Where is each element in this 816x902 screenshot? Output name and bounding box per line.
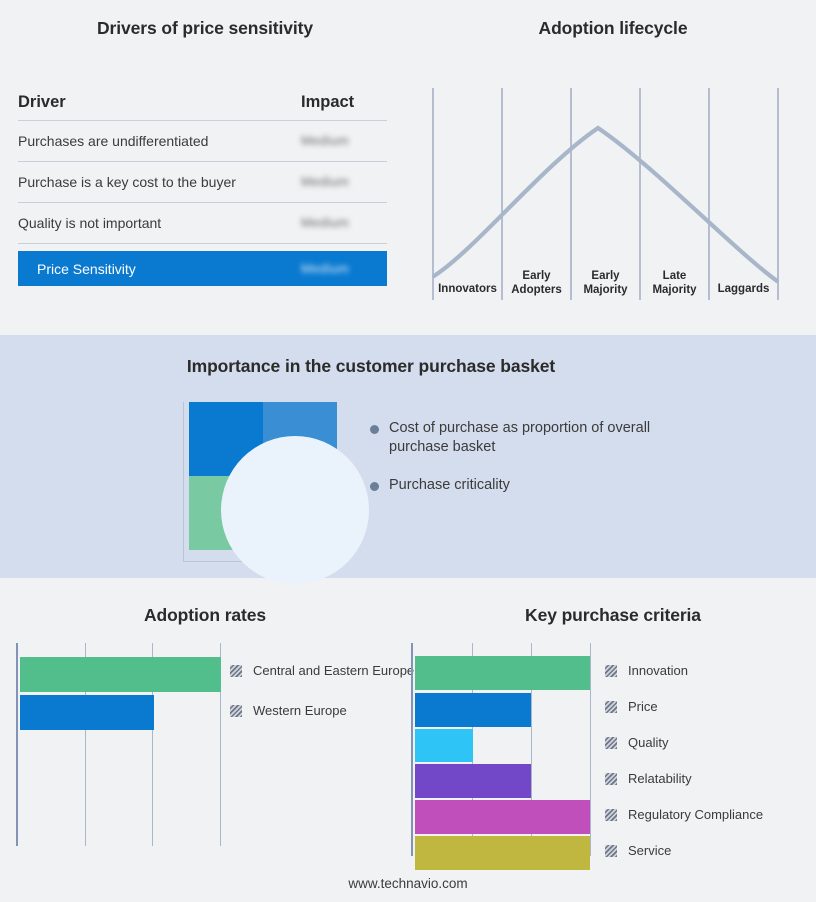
- legend-item: Central and Eastern Europe: [230, 663, 414, 678]
- legend-item: Quality: [605, 735, 763, 750]
- position-marker-dot: [221, 436, 369, 584]
- footer-url: www.technavio.com: [0, 876, 816, 891]
- impact-value-redacted: Medium: [301, 174, 349, 189]
- hatched-swatch-icon: [605, 773, 617, 785]
- driver-name: Quality is not important: [18, 215, 301, 231]
- summary-impact: Medium: [301, 260, 387, 278]
- legend-label: Relatability: [628, 771, 692, 786]
- quadrant-grid: [189, 402, 337, 550]
- key-purchase-criteria-title: Key purchase criteria: [410, 605, 816, 626]
- table-row: Quality is not important Medium: [18, 203, 387, 244]
- stage-label-innovators: Innovators: [433, 283, 502, 297]
- legend-item: Purchase criticality: [370, 476, 660, 495]
- hatched-swatch-icon: [605, 737, 617, 749]
- legend-item: Price: [605, 699, 763, 714]
- column-header-driver: Driver: [18, 93, 301, 112]
- key-purchase-criteria-chart: [411, 643, 591, 856]
- legend-item: Innovation: [605, 663, 763, 678]
- legend-label: Regulatory Compliance: [628, 807, 763, 822]
- table-row: Purchase is a key cost to the buyer Medi…: [18, 162, 387, 203]
- plot-area: [16, 643, 221, 846]
- column-header-impact: Impact: [301, 93, 387, 112]
- drivers-table: Driver Impact Purchases are undifferenti…: [18, 93, 387, 286]
- driver-name: Purchase is a key cost to the buyer: [18, 174, 301, 190]
- hatched-swatch-icon: [605, 701, 617, 713]
- bullet-icon: [370, 482, 379, 491]
- stage-label-early-majority: Early Majority: [571, 270, 640, 297]
- hatched-swatch-icon: [605, 845, 617, 857]
- drivers-panel-title: Drivers of price sensitivity: [0, 18, 410, 39]
- table-row: Purchases are undifferentiated Medium: [18, 121, 387, 162]
- hatched-swatch-icon: [230, 705, 242, 717]
- quadrant-matrix: [183, 402, 343, 562]
- legend-item: Cost of purchase as proportion of overal…: [370, 419, 660, 457]
- driver-impact: Medium: [301, 173, 387, 191]
- legend-label: Western Europe: [253, 703, 347, 718]
- bullet-icon: [370, 425, 379, 434]
- plot-area: [411, 643, 591, 856]
- impact-value-redacted: Medium: [301, 261, 349, 276]
- impact-value-redacted: Medium: [301, 133, 349, 148]
- adoption-rates-chart: [16, 643, 221, 846]
- legend-label: Innovation: [628, 663, 688, 678]
- infographic-page: Drivers of price sensitivity Driver Impa…: [0, 0, 816, 902]
- driver-impact: Medium: [301, 214, 387, 232]
- impact-value-redacted: Medium: [301, 215, 349, 230]
- legend-label: Price: [628, 699, 658, 714]
- hatched-swatch-icon: [605, 809, 617, 821]
- legend-label: Service: [628, 843, 671, 858]
- legend-item: Relatability: [605, 771, 763, 786]
- price-sensitivity-summary-row: Price Sensitivity Medium: [18, 251, 387, 286]
- adoption-rates-legend: Central and Eastern Europe Western Europ…: [230, 663, 414, 718]
- bar-central-and-eastern-europe: [20, 657, 221, 692]
- hatched-swatch-icon: [230, 665, 242, 677]
- bar-innovation: [415, 656, 590, 690]
- driver-impact: Medium: [301, 132, 387, 150]
- bar-western-europe: [20, 695, 154, 730]
- importance-legend: Cost of purchase as proportion of overal…: [370, 419, 660, 514]
- stage-label-laggards: Laggards: [709, 283, 778, 297]
- legend-label: Purchase criticality: [389, 476, 510, 495]
- key-purchase-criteria-legend: Innovation Price Quality Relatability Re…: [605, 663, 763, 858]
- importance-panel-title: Importance in the customer purchase bask…: [0, 356, 742, 377]
- legend-item: Western Europe: [230, 703, 414, 718]
- bar-relatability: [415, 764, 531, 798]
- legend-label: Central and Eastern Europe: [253, 663, 414, 678]
- adoption-rates-title: Adoption rates: [0, 605, 410, 626]
- adoption-lifecycle-chart: Innovators Early Adopters Early Majority…: [432, 88, 780, 313]
- legend-label: Quality: [628, 735, 668, 750]
- hatched-swatch-icon: [605, 665, 617, 677]
- table-header-row: Driver Impact: [18, 93, 387, 121]
- summary-label: Price Sensitivity: [37, 261, 301, 277]
- legend-item: Regulatory Compliance: [605, 807, 763, 822]
- legend-item: Service: [605, 843, 763, 858]
- stage-label-late-majority: Late Majority: [640, 270, 709, 297]
- bar-regulatory-compliance: [415, 800, 590, 834]
- lifecycle-panel-title: Adoption lifecycle: [410, 18, 816, 39]
- bar-price: [415, 693, 531, 727]
- driver-name: Purchases are undifferentiated: [18, 133, 301, 149]
- bar-service: [415, 836, 590, 870]
- stage-label-early-adopters: Early Adopters: [502, 270, 571, 297]
- gridline: [590, 643, 591, 856]
- bar-quality: [415, 729, 473, 762]
- legend-label: Cost of purchase as proportion of overal…: [389, 419, 660, 457]
